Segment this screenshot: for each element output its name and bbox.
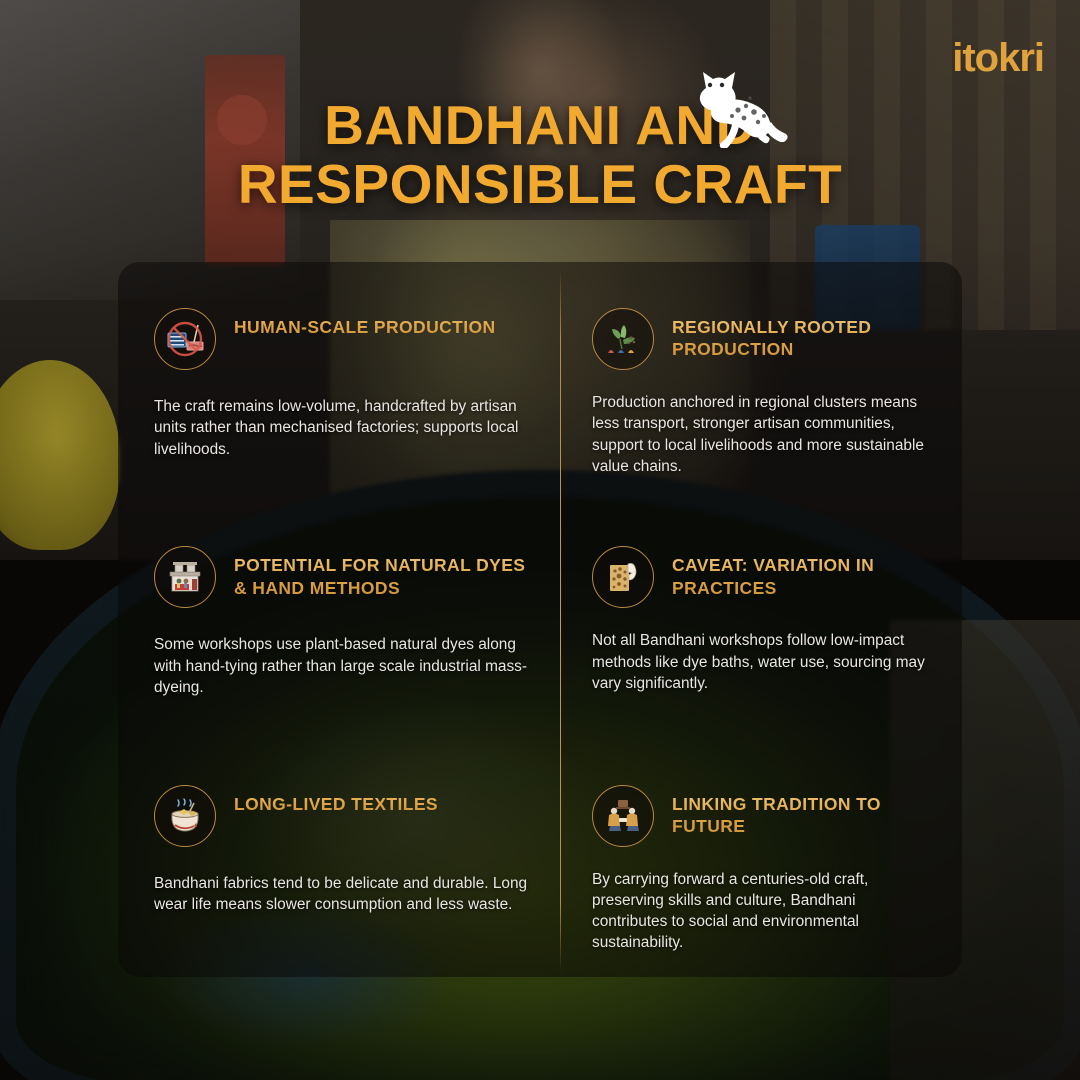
cat-illustration-icon bbox=[686, 58, 796, 148]
card-header: REGIONALLY ROOTED PRODUCTION bbox=[592, 308, 934, 370]
card-title: LINKING TRADITION TO FUTURE bbox=[672, 785, 934, 838]
hand-holding-fabric-icon bbox=[592, 546, 654, 608]
card-title: LONG-LIVED TEXTILES bbox=[234, 785, 438, 815]
card-title: REGIONALLY ROOTED PRODUCTION bbox=[672, 308, 934, 361]
card-body: Bandhani fabrics tend to be delicate and… bbox=[154, 873, 530, 916]
card-body: Not all Bandhani workshops follow low-im… bbox=[592, 630, 934, 694]
card-body: The craft remains low-volume, handcrafte… bbox=[154, 396, 530, 460]
card-linking-tradition-to-future: LINKING TRADITION TO FUTURE By carrying … bbox=[560, 739, 962, 977]
two-artisans-icon bbox=[592, 785, 654, 847]
card-header: LONG-LIVED TEXTILES bbox=[154, 785, 530, 847]
card-natural-dyes-hand-methods: POTENTIAL FOR NATURAL DYES & HAND METHOD… bbox=[118, 500, 560, 738]
card-title: CAVEAT: VARIATION IN PRACTICES bbox=[672, 546, 934, 599]
card-body: Some workshops use plant-based natural d… bbox=[154, 634, 530, 698]
card-caveat-variation-in-practices: CAVEAT: VARIATION IN PRACTICES Not all B… bbox=[560, 500, 962, 738]
column-divider bbox=[560, 268, 561, 972]
brand-logo-text: itokri bbox=[952, 36, 1044, 80]
card-regionally-rooted-production: REGIONALLY ROOTED PRODUCTION Production … bbox=[560, 262, 962, 500]
card-header: HUMAN-SCALE PRODUCTION bbox=[154, 308, 530, 370]
card-header: LINKING TRADITION TO FUTURE bbox=[592, 785, 934, 847]
card-title: POTENTIAL FOR NATURAL DYES & HAND METHOD… bbox=[234, 546, 530, 599]
page-title-line-2: RESPONSIBLE CRAFT bbox=[0, 155, 1080, 214]
brand-logo[interactable]: itokri bbox=[952, 38, 1044, 78]
card-header: POTENTIAL FOR NATURAL DYES & HAND METHOD… bbox=[154, 546, 530, 608]
card-header: CAVEAT: VARIATION IN PRACTICES bbox=[592, 546, 934, 608]
card-body: By carrying forward a centuries-old craf… bbox=[592, 869, 934, 954]
card-body: Production anchored in regional clusters… bbox=[592, 392, 934, 477]
no-factory-icon bbox=[154, 308, 216, 370]
page-title-line-1: BANDHANI AND bbox=[0, 96, 1080, 155]
seedling-dye-powder-icon bbox=[592, 308, 654, 370]
steaming-dye-pot-icon bbox=[154, 785, 216, 847]
card-long-lived-textiles: LONG-LIVED TEXTILES Bandhani fabrics ten… bbox=[118, 739, 560, 977]
benefits-grid: HUMAN-SCALE PRODUCTION The craft remains… bbox=[118, 262, 962, 977]
page-title: BANDHANI AND RESPONSIBLE CRAFT bbox=[0, 96, 1080, 215]
workshop-building-icon bbox=[154, 546, 216, 608]
card-human-scale-production: HUMAN-SCALE PRODUCTION The craft remains… bbox=[118, 262, 560, 500]
card-title: HUMAN-SCALE PRODUCTION bbox=[234, 308, 496, 338]
